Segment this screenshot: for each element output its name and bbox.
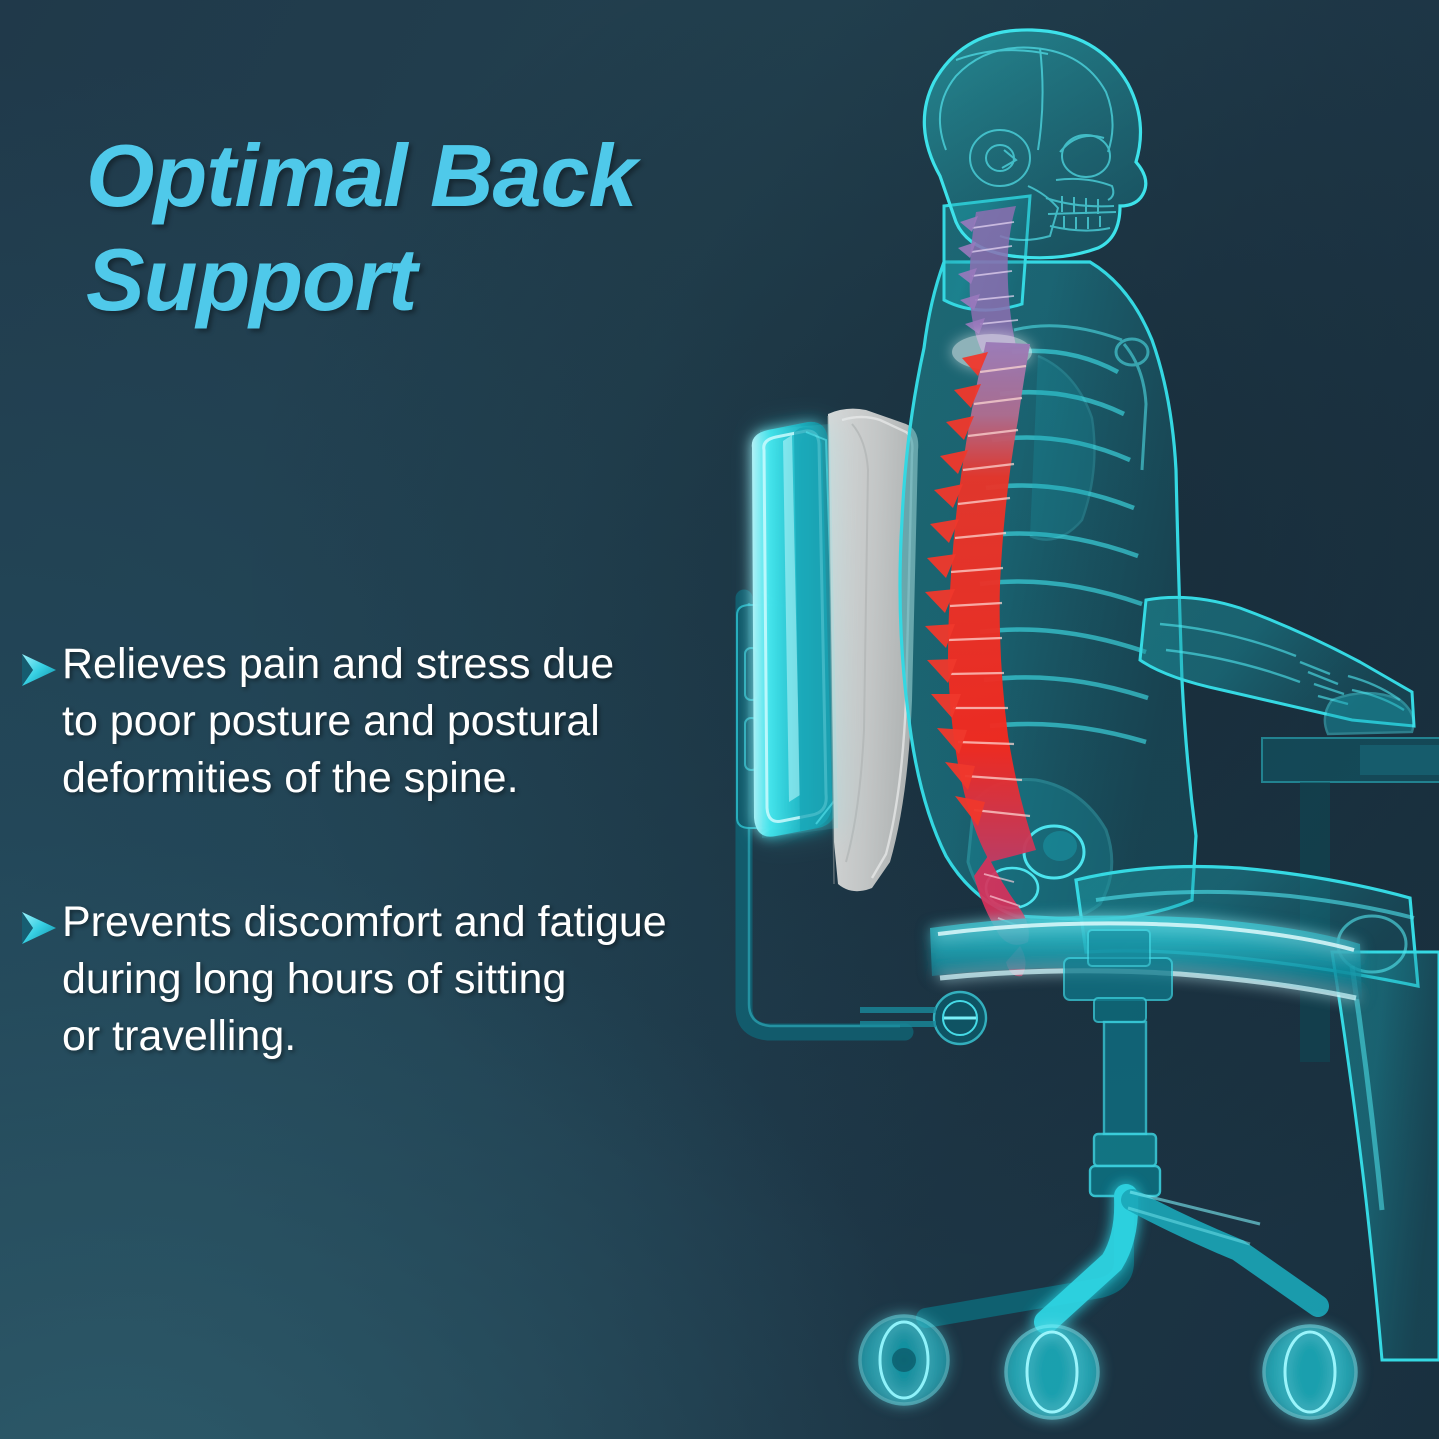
poster-root: Optimal Back Support Relieves pain bbox=[0, 0, 1439, 1439]
arrow-bullet-icon bbox=[14, 648, 62, 692]
list-item: Prevents discomfort and fatigue during l… bbox=[14, 894, 756, 1066]
list-item: Relieves pain and stress due to poor pos… bbox=[14, 636, 756, 808]
arrow-bullet-icon bbox=[14, 906, 62, 950]
list-item-label: Relieves pain and stress due to poor pos… bbox=[62, 636, 756, 808]
benefit-list: Relieves pain and stress due to poor pos… bbox=[14, 636, 756, 1151]
list-item-label: Prevents discomfort and fatigue during l… bbox=[62, 894, 756, 1066]
page-title: Optimal Back Support bbox=[86, 124, 786, 332]
